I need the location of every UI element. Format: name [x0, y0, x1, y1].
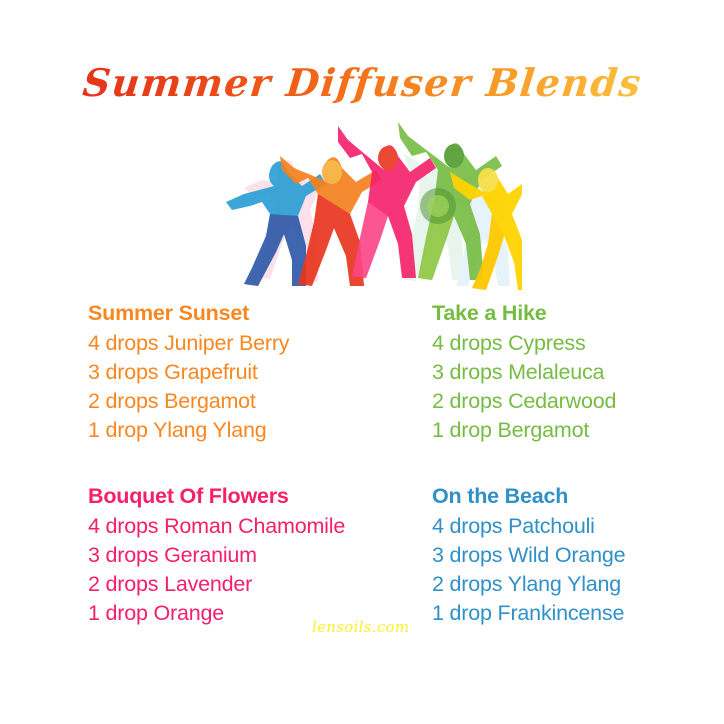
blend-card-bouquet-of-flowers: Bouquet Of Flowers 4 drops Roman Chamomi… [88, 482, 345, 628]
blend-ingredient-line: 2 drops Lavender [88, 570, 345, 599]
blend-card-on-the-beach: On the Beach 4 drops Patchouli 3 drops W… [432, 482, 625, 628]
poster-canvas: Summer Diffuser Blends [0, 0, 724, 724]
blend-ingredient-line: 2 drops Bergamot [88, 387, 289, 416]
blend-ingredient-line: 1 drop Ylang Ylang [88, 416, 289, 445]
blend-title: Summer Sunset [88, 299, 289, 328]
blend-ingredient-line: 4 drops Cypress [432, 329, 616, 358]
blend-ingredient-line: 1 drop Orange [88, 599, 345, 628]
blend-title: Bouquet Of Flowers [88, 482, 345, 511]
blend-ingredient-line: 3 drops Melaleuca [432, 358, 616, 387]
title-container: Summer Diffuser Blends [0, 62, 724, 104]
blend-ingredient-line: 3 drops Geranium [88, 541, 345, 570]
blend-title: On the Beach [432, 482, 625, 511]
blend-card-take-a-hike: Take a Hike 4 drops Cypress 3 drops Mela… [432, 299, 616, 445]
blend-ingredient-line: 1 drop Bergamot [432, 416, 616, 445]
blend-ingredient-line: 4 drops Roman Chamomile [88, 512, 345, 541]
blend-title: Take a Hike [432, 299, 616, 328]
blend-ingredient-line: 3 drops Grapefruit [88, 358, 289, 387]
blend-ingredient-line: 4 drops Juniper Berry [88, 329, 289, 358]
blend-ingredient-line: 4 drops Patchouli [432, 512, 625, 541]
page-title: Summer Diffuser Blends [80, 62, 643, 104]
jumping-people-silhouettes-artwork [222, 110, 522, 290]
blend-ingredient-line: 3 drops Wild Orange [432, 541, 625, 570]
watermark: lensoils.com [312, 618, 409, 636]
blend-ingredient-line: 1 drop Frankincense [432, 599, 625, 628]
blend-ingredient-line: 2 drops Ylang Ylang [432, 570, 625, 599]
blend-ingredient-line: 2 drops Cedarwood [432, 387, 616, 416]
blend-card-summer-sunset: Summer Sunset 4 drops Juniper Berry 3 dr… [88, 299, 289, 445]
